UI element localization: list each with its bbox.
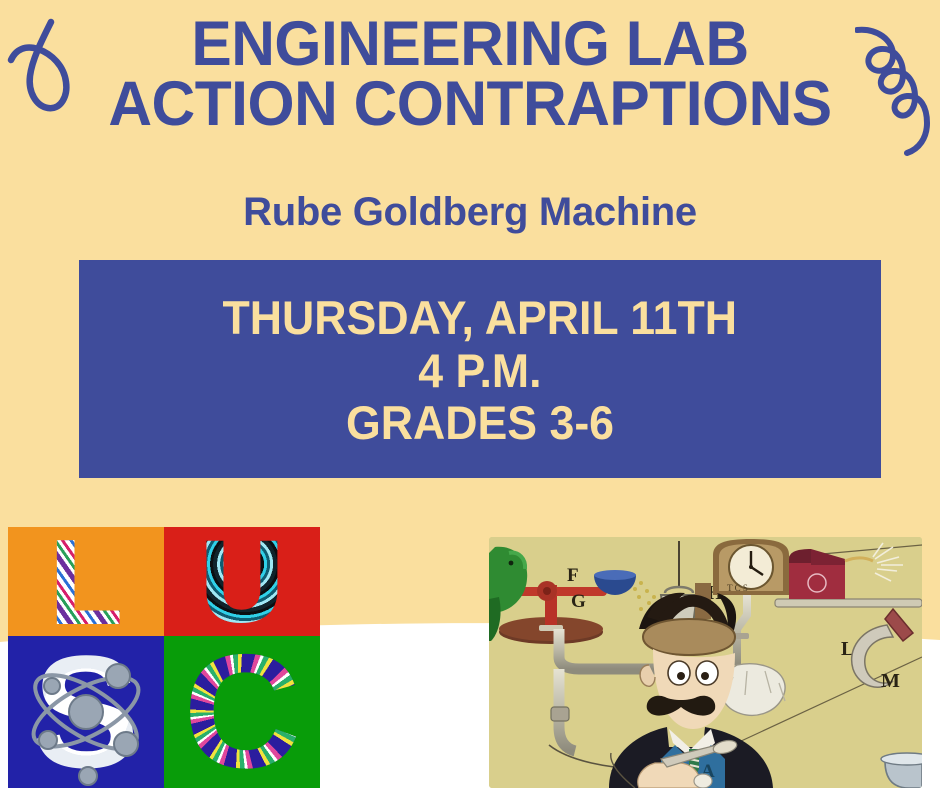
svg-text:T C S: T C S [727,583,748,593]
event-details-box: THURSDAY, APRIL 11TH 4 P.M. GRADES 3-6 [79,260,881,478]
svg-text:M: M [881,670,900,692]
event-date: THURSDAY, APRIL 11TH [223,292,737,345]
svg-text:F: F [567,565,579,586]
logo-tile-c: C [164,636,320,788]
poster-canvas: ENGINEERING LAB ACTION CONTRAPTIONS Rube… [0,0,940,788]
atom-orbit-icon [8,636,164,788]
page-title: ENGINEERING LAB ACTION CONTRAPTIONS [0,14,940,135]
event-time: 4 P.M. [418,345,541,398]
logo-tile-s: S [8,636,164,788]
event-grades: GRADES 3-6 [346,397,614,450]
rube-goldberg-illustration: F G H [489,537,922,788]
subtitle: Rube Goldberg Machine [0,190,940,235]
mantel-clock: T C S [713,539,789,595]
logo-letter-u: U [164,527,320,636]
logo-tile-u: U [164,527,320,636]
svg-text:G: G [571,591,586,612]
headline-line-2: ACTION CONTRAPTIONS [19,74,921,134]
logo-tile-l: L [8,527,164,636]
library-logo: L U S C [8,527,320,788]
headline-line-1: ENGINEERING LAB [19,14,921,74]
logo-letter-l: L [8,527,164,636]
logo-letter-c: C [164,636,320,788]
